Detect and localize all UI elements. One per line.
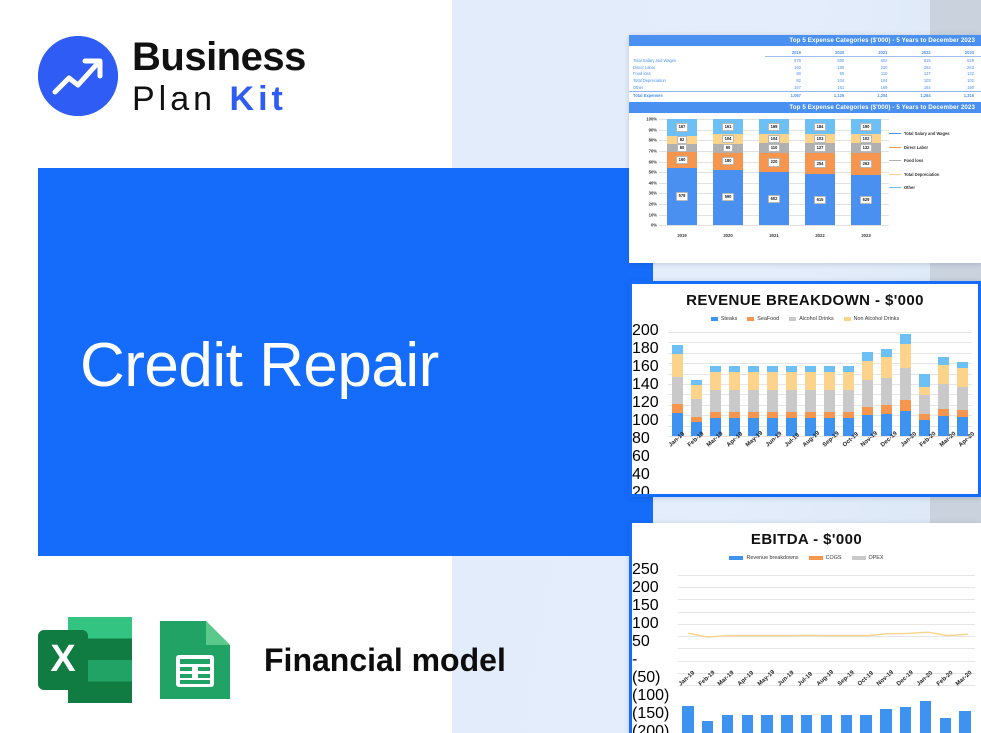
table-cell: 90 (808, 71, 851, 78)
y-axis-tick: 70% (631, 148, 657, 153)
legend-item: SeaFood (747, 316, 779, 322)
bar-value-label: 263 (860, 160, 873, 168)
bar-segment (805, 390, 817, 412)
bar-segment: 110 (759, 143, 789, 153)
legend-item: Steaks (711, 316, 737, 322)
legend-swatch (789, 317, 796, 321)
stacked-bar (744, 366, 763, 436)
brand-plan-text: Plan (132, 80, 216, 118)
y-axis-tick: (150) (632, 705, 670, 723)
brand-name-secondary: Plan Kit (132, 82, 306, 116)
y-axis-tick: - (632, 651, 670, 669)
bar-segment: 104 (713, 134, 743, 144)
excel-glyph: X (50, 638, 76, 680)
bar-segment: 263 (851, 153, 881, 174)
bar-segment (672, 354, 684, 377)
bar-segment: 220 (759, 153, 789, 172)
bar-value-label: 110 (768, 144, 781, 152)
page-title: Credit Repair (80, 330, 439, 401)
stacked-bar (877, 349, 896, 436)
stacked-bar (915, 374, 934, 436)
ebitda-line-series (678, 575, 978, 685)
expense-table-title: Top 5 Expense Categories ($'000) - 5 Yea… (629, 35, 981, 46)
plot-area (668, 332, 972, 436)
table-cell: 629 (938, 57, 981, 64)
bar-segment (805, 412, 817, 419)
legend-item: Total Depreciation (889, 172, 977, 177)
table-cell: 161 (808, 84, 851, 91)
y-axis-tick: 250 (632, 561, 670, 579)
x-axis-tick: 2020 (713, 233, 743, 238)
table-cell: 169 (851, 84, 894, 91)
financial-model-label: Financial model (264, 642, 506, 679)
bar-segment (900, 368, 912, 399)
y-axis-tick: 140 (632, 376, 660, 394)
stacked-bar (687, 380, 706, 436)
bar-segment: 602 (759, 172, 789, 225)
table-cell: 104 (851, 77, 894, 84)
legend-swatch (889, 174, 901, 175)
bar-segment (862, 407, 874, 415)
bar-segment (900, 344, 912, 369)
legend-swatch (889, 147, 901, 148)
table-cell: 104 (808, 77, 851, 84)
bar-segment: 180 (713, 153, 743, 170)
bar-segment (729, 390, 741, 412)
bar-value-label: 590 (722, 193, 735, 201)
legend-item: OPEX (852, 555, 884, 561)
legend-swatch (809, 556, 823, 560)
bar-segment (786, 412, 798, 419)
bar-segment: 132 (851, 143, 881, 154)
bar-segment (767, 372, 779, 390)
table-cell: 1,284 (894, 91, 937, 99)
bar-value-label: 160 (676, 156, 689, 164)
bar-value-label: 127 (814, 144, 827, 152)
bar-segment (710, 412, 722, 419)
bar-value-label: 90 (723, 144, 734, 152)
bar-segment (824, 390, 836, 412)
stacked-bar (763, 366, 782, 436)
legend-swatch (844, 317, 851, 321)
expense-categories-card: Top 5 Expense Categories ($'000) - 5 Yea… (629, 35, 981, 263)
y-axis-tick: 100% (631, 117, 657, 122)
legend-swatch (889, 133, 901, 134)
legend-label: Other (904, 185, 915, 190)
bar-segment (767, 390, 779, 412)
brand-kit-text: Kit (230, 80, 287, 118)
bar-value-label: 132 (860, 144, 873, 152)
y-axis-tick: 30% (631, 191, 657, 196)
bar-value-label: 102 (860, 135, 873, 143)
stacked-bar (820, 366, 839, 436)
bar-segment (881, 378, 893, 406)
y-axis-tick: 40% (631, 180, 657, 185)
bar-segment (957, 410, 969, 417)
row-label: Total Depreciation (629, 77, 765, 84)
y-axis-tick: 200 (632, 579, 670, 597)
expense-chart-title: Top 5 Expense Categories ($'000) - 5 Yea… (629, 102, 981, 113)
bar-value-label: 578 (676, 192, 689, 200)
legend-swatch (889, 187, 901, 188)
bar-segment (881, 349, 893, 357)
bar-segment: 190 (851, 119, 881, 134)
stacked-bar (668, 345, 687, 436)
bar-segment (900, 411, 912, 436)
bar-segment (722, 715, 733, 733)
legend-label: OPEX (869, 555, 884, 561)
growth-arrow-icon (38, 36, 118, 116)
bar-segment (729, 372, 741, 390)
bar-segment: 254 (805, 153, 835, 174)
bar-segment (957, 362, 969, 369)
table-cell: 80 (765, 71, 808, 78)
row-label: Food loss (629, 71, 765, 78)
stacked-bar: 184103127254615 (805, 119, 835, 225)
column-header: 2021 (851, 49, 894, 57)
y-axis-tick: 100 (632, 412, 660, 430)
legend-label: SeaFood (757, 316, 779, 322)
table-row: Total Salary and Wages578590602615629 (629, 57, 981, 64)
bar-segment (862, 380, 874, 406)
bar-segment (691, 399, 703, 417)
y-axis-tick: 80% (631, 138, 657, 143)
legend-swatch (747, 317, 754, 321)
bar-segment (841, 715, 852, 733)
bar-segment (786, 390, 798, 412)
x-axis-tick: 2019 (667, 233, 697, 238)
bar-segment (821, 715, 832, 733)
revenue-breakdown-card: REVENUE BREAKDOWN - $'000 SteaksSeaFoodA… (629, 281, 981, 497)
plot-area (678, 575, 975, 685)
bar-segment: 167 (667, 119, 697, 136)
legend-label: Total Salary and Wages (904, 131, 950, 136)
y-axis-tick: 60 (632, 448, 660, 466)
table-cell: 578 (765, 57, 808, 64)
table-cell: 220 (851, 64, 894, 71)
x-axis-tick: 2022 (805, 233, 835, 238)
legend-label: Alcohol Drinks (799, 316, 833, 322)
x-axis-tick: 2023 (851, 233, 881, 238)
bar-segment (881, 405, 893, 414)
legend-label: Food loss (904, 158, 923, 163)
stacked-bar: 190102132263629 (851, 119, 881, 225)
bar-segment (748, 390, 760, 412)
bar-segment (919, 374, 931, 386)
stacked-bar: 1678280160578 (667, 119, 697, 225)
bar-segment (940, 718, 951, 733)
legend-label: COGS (826, 555, 842, 561)
column-header: 2020 (808, 49, 851, 57)
bar-segment (880, 709, 891, 733)
bar-value-label: 82 (677, 136, 688, 144)
bar-segment (959, 711, 970, 733)
bar-value-label: 220 (768, 158, 781, 166)
bar-segment: 578 (667, 168, 697, 225)
table-cell: 127 (894, 71, 937, 78)
x-axis-labels: 20192020202120222023 (659, 233, 889, 238)
row-label: Direct Labor (629, 64, 765, 71)
table-cell: 167 (765, 84, 808, 91)
table-row: Direct Labor160180220254263 (629, 64, 981, 71)
table-cell: 132 (938, 71, 981, 78)
y-axis-tick: 10% (631, 212, 657, 217)
bar-segment (786, 372, 798, 390)
legend-swatch (729, 556, 743, 560)
legend-label: Non Alcohol Drinks (854, 316, 900, 322)
table-cell: 190 (938, 84, 981, 91)
table-cell: 263 (938, 64, 981, 71)
y-axis-tick: 80 (632, 430, 660, 448)
stacked-bar (858, 352, 877, 436)
table-cell: 1,125 (808, 91, 851, 99)
table-total-row: Total Expenses1,0671,1251,2041,2841,316 (629, 91, 981, 99)
bar-group (668, 332, 972, 436)
legend-swatch (711, 317, 718, 321)
bar-segment (919, 387, 931, 396)
row-label: Other (629, 84, 765, 91)
y-axis-tick: 40 (632, 466, 660, 484)
table-cell: 1,316 (938, 91, 981, 99)
y-axis-tick: 100 (632, 615, 670, 633)
bar-segment (862, 352, 874, 361)
bar-segment (843, 372, 855, 390)
brand-logo: Business Plan Kit (38, 30, 368, 122)
y-axis-tick: 50 (632, 633, 670, 651)
bar-segment (729, 412, 741, 419)
y-axis-tick: 90% (631, 127, 657, 132)
bar-segment: 103 (805, 134, 835, 143)
bar-value-label: 104 (722, 135, 735, 143)
legend-label: Total Depreciation (904, 172, 939, 177)
bar-segment (957, 417, 969, 436)
stacked-bar: 169104110220602 (759, 119, 789, 225)
legend-label: Direct Labor (904, 145, 928, 150)
legend-item: Revenue breakdowns (729, 555, 798, 561)
table-cell: 102 (938, 77, 981, 84)
table-cell: 254 (894, 64, 937, 71)
plot-area: 1678280160578161104901805901691041102206… (659, 119, 889, 225)
bar-segment (672, 404, 684, 413)
bar-segment (843, 412, 855, 419)
stacked-bar: 16110490180590 (713, 119, 743, 225)
revenue-chart-title: REVENUE BREAKDOWN - $'000 (632, 292, 978, 309)
table-cell: 110 (851, 71, 894, 78)
chart-legend: Total Salary and WagesDirect LaborFood l… (889, 131, 977, 190)
bar-segment (938, 365, 950, 385)
bar-segment (938, 409, 950, 417)
table-row: Food loss8090110127132 (629, 71, 981, 78)
bar-value-label: 180 (722, 157, 735, 165)
format-badges: X Financial model (38, 614, 506, 706)
legend-swatch (889, 160, 901, 161)
ebitda-card: EBITDA - $'000 Revenue breakdownsCOGSOPE… (629, 523, 981, 733)
bar-segment: 160 (667, 152, 697, 168)
table-cell: 180 (808, 64, 851, 71)
table-cell: 615 (894, 57, 937, 64)
stacked-bar (953, 362, 972, 436)
legend-swatch (852, 556, 866, 560)
y-axis-tick: 20 (632, 484, 660, 497)
bar-segment (920, 701, 931, 733)
bar-segment (781, 715, 792, 733)
bar-segment (748, 372, 760, 390)
expense-table: 20192020202120222023 Total Salary and Wa… (629, 49, 981, 99)
bar-segment (682, 706, 693, 733)
bar-segment (860, 715, 871, 733)
table-cell: 1,067 (765, 91, 808, 99)
bar-value-label: 615 (814, 196, 827, 204)
bar-segment: 102 (851, 134, 881, 142)
y-axis-tick: 60% (631, 159, 657, 164)
legend-item: Direct Labor (889, 145, 977, 150)
table-cell: 602 (851, 57, 894, 64)
row-label: Total Expenses (629, 91, 765, 99)
table-cell: 160 (765, 64, 808, 71)
bar-value-label: 80 (677, 144, 688, 152)
table-row: Total Depreciation82104104103102 (629, 77, 981, 84)
bar-segment (919, 395, 931, 414)
bar-value-label: 104 (768, 135, 781, 143)
x-axis-labels: Jan-19Feb-19Mar-19Apr-19May-19Jun-19Jul-… (678, 683, 975, 689)
bar-segment (761, 715, 772, 733)
bar-segment (824, 412, 836, 419)
y-axis-tick: 150 (632, 597, 670, 615)
bar-segment: 169 (759, 119, 789, 134)
bar-segment: 184 (805, 119, 835, 134)
bar-value-label: 167 (676, 123, 689, 131)
bar-segment (843, 390, 855, 412)
y-axis-tick: 120 (632, 394, 660, 412)
bar-segment (957, 387, 969, 410)
column-header: 2022 (894, 49, 937, 57)
stacked-bar (706, 366, 725, 436)
y-axis-tick: 200 (632, 322, 660, 340)
bar-segment (672, 345, 684, 354)
column-header: 2023 (938, 49, 981, 57)
bar-value-label: 254 (814, 160, 827, 168)
google-sheets-icon (156, 617, 234, 703)
bar-value-label: 103 (814, 135, 827, 143)
stacked-bar (934, 357, 953, 436)
bar-segment (710, 390, 722, 412)
column-header: 2019 (765, 49, 808, 57)
microsoft-excel-icon: X (38, 617, 132, 703)
bar-segment (805, 372, 817, 390)
bar-value-label: 190 (860, 123, 873, 131)
y-axis-tick: 50% (631, 170, 657, 175)
bar-segment (691, 385, 703, 399)
gridline (659, 225, 889, 226)
stacked-bar (839, 366, 858, 436)
ebitda-chart-title: EBITDA - $'000 (632, 531, 981, 548)
y-axis-tick: (50) (632, 669, 670, 687)
stacked-bar (896, 334, 915, 436)
bar-segment (742, 715, 753, 733)
legend-label: Steaks (721, 316, 737, 322)
bar-segment: 127 (805, 143, 835, 154)
bar-segment (767, 412, 779, 419)
legend-item: Non Alcohol Drinks (844, 316, 900, 322)
legend-item: Other (889, 185, 977, 190)
bar-segment (957, 368, 969, 387)
x-axis-labels: Jan-19Feb-19Mar-19Apr-19May-19Jun-19Jul-… (668, 444, 972, 450)
y-axis-tick: (200) (632, 723, 670, 733)
y-axis-tick: 180 (632, 340, 660, 358)
x-axis-tick: 2021 (759, 233, 789, 238)
bar-segment (672, 377, 684, 405)
bar-segment (748, 412, 760, 419)
bar-segment (900, 334, 912, 344)
bar-segment: 104 (759, 134, 789, 143)
bar-value-label: 184 (814, 123, 827, 131)
bar-segment (938, 416, 950, 436)
bar-segment (710, 372, 722, 390)
bar-value-label: 602 (768, 195, 781, 203)
y-axis-tick: 160 (632, 358, 660, 376)
brand-name-primary: Business (132, 37, 306, 77)
stacked-bar (725, 366, 744, 436)
legend-item: Total Salary and Wages (889, 131, 977, 136)
legend-label: Revenue breakdowns (746, 555, 798, 561)
legend-item: Food loss (889, 158, 977, 163)
table-cell: 103 (894, 77, 937, 84)
bar-segment (900, 400, 912, 411)
bar-segment (938, 357, 950, 364)
bar-value-label: 169 (768, 123, 781, 131)
table-cell: 184 (894, 84, 937, 91)
stacked-bar (801, 366, 820, 436)
bar-segment (862, 361, 874, 381)
bar-value-label: 161 (722, 123, 735, 131)
bar-segment (938, 384, 950, 408)
bar-segment (801, 715, 812, 733)
bar-segment: 161 (713, 119, 743, 134)
bar-segment (900, 707, 911, 733)
row-label: Total Salary and Wages (629, 57, 765, 64)
table-header-row: 20192020202120222023 (629, 49, 981, 57)
table-cell: 82 (765, 77, 808, 84)
table-row: Other167161169184190 (629, 84, 981, 91)
legend-item: COGS (809, 555, 842, 561)
y-axis-tick: (100) (632, 687, 670, 705)
bar-segment: 629 (851, 175, 881, 226)
bar-group: 1678280160578161104901805901691041102206… (659, 119, 889, 225)
bar-segment (881, 357, 893, 378)
legend-item: Alcohol Drinks (789, 316, 833, 322)
bar-segment: 90 (713, 144, 743, 152)
y-axis-tick: 20% (631, 201, 657, 206)
table-cell: 1,204 (851, 91, 894, 99)
table-cell: 590 (808, 57, 851, 64)
bar-value-label: 629 (860, 196, 873, 204)
bar-segment (702, 721, 713, 733)
stacked-bar (782, 366, 801, 436)
bar-segment: 590 (713, 170, 743, 226)
y-axis-tick: 0% (631, 223, 657, 228)
bar-segment: 615 (805, 174, 835, 225)
bar-segment (824, 372, 836, 390)
bar-segment: 80 (667, 144, 697, 152)
expense-100pct-chart: 1678280160578161104901805901691041102206… (629, 113, 981, 241)
column-header (629, 49, 765, 57)
bar-segment: 82 (667, 136, 697, 144)
